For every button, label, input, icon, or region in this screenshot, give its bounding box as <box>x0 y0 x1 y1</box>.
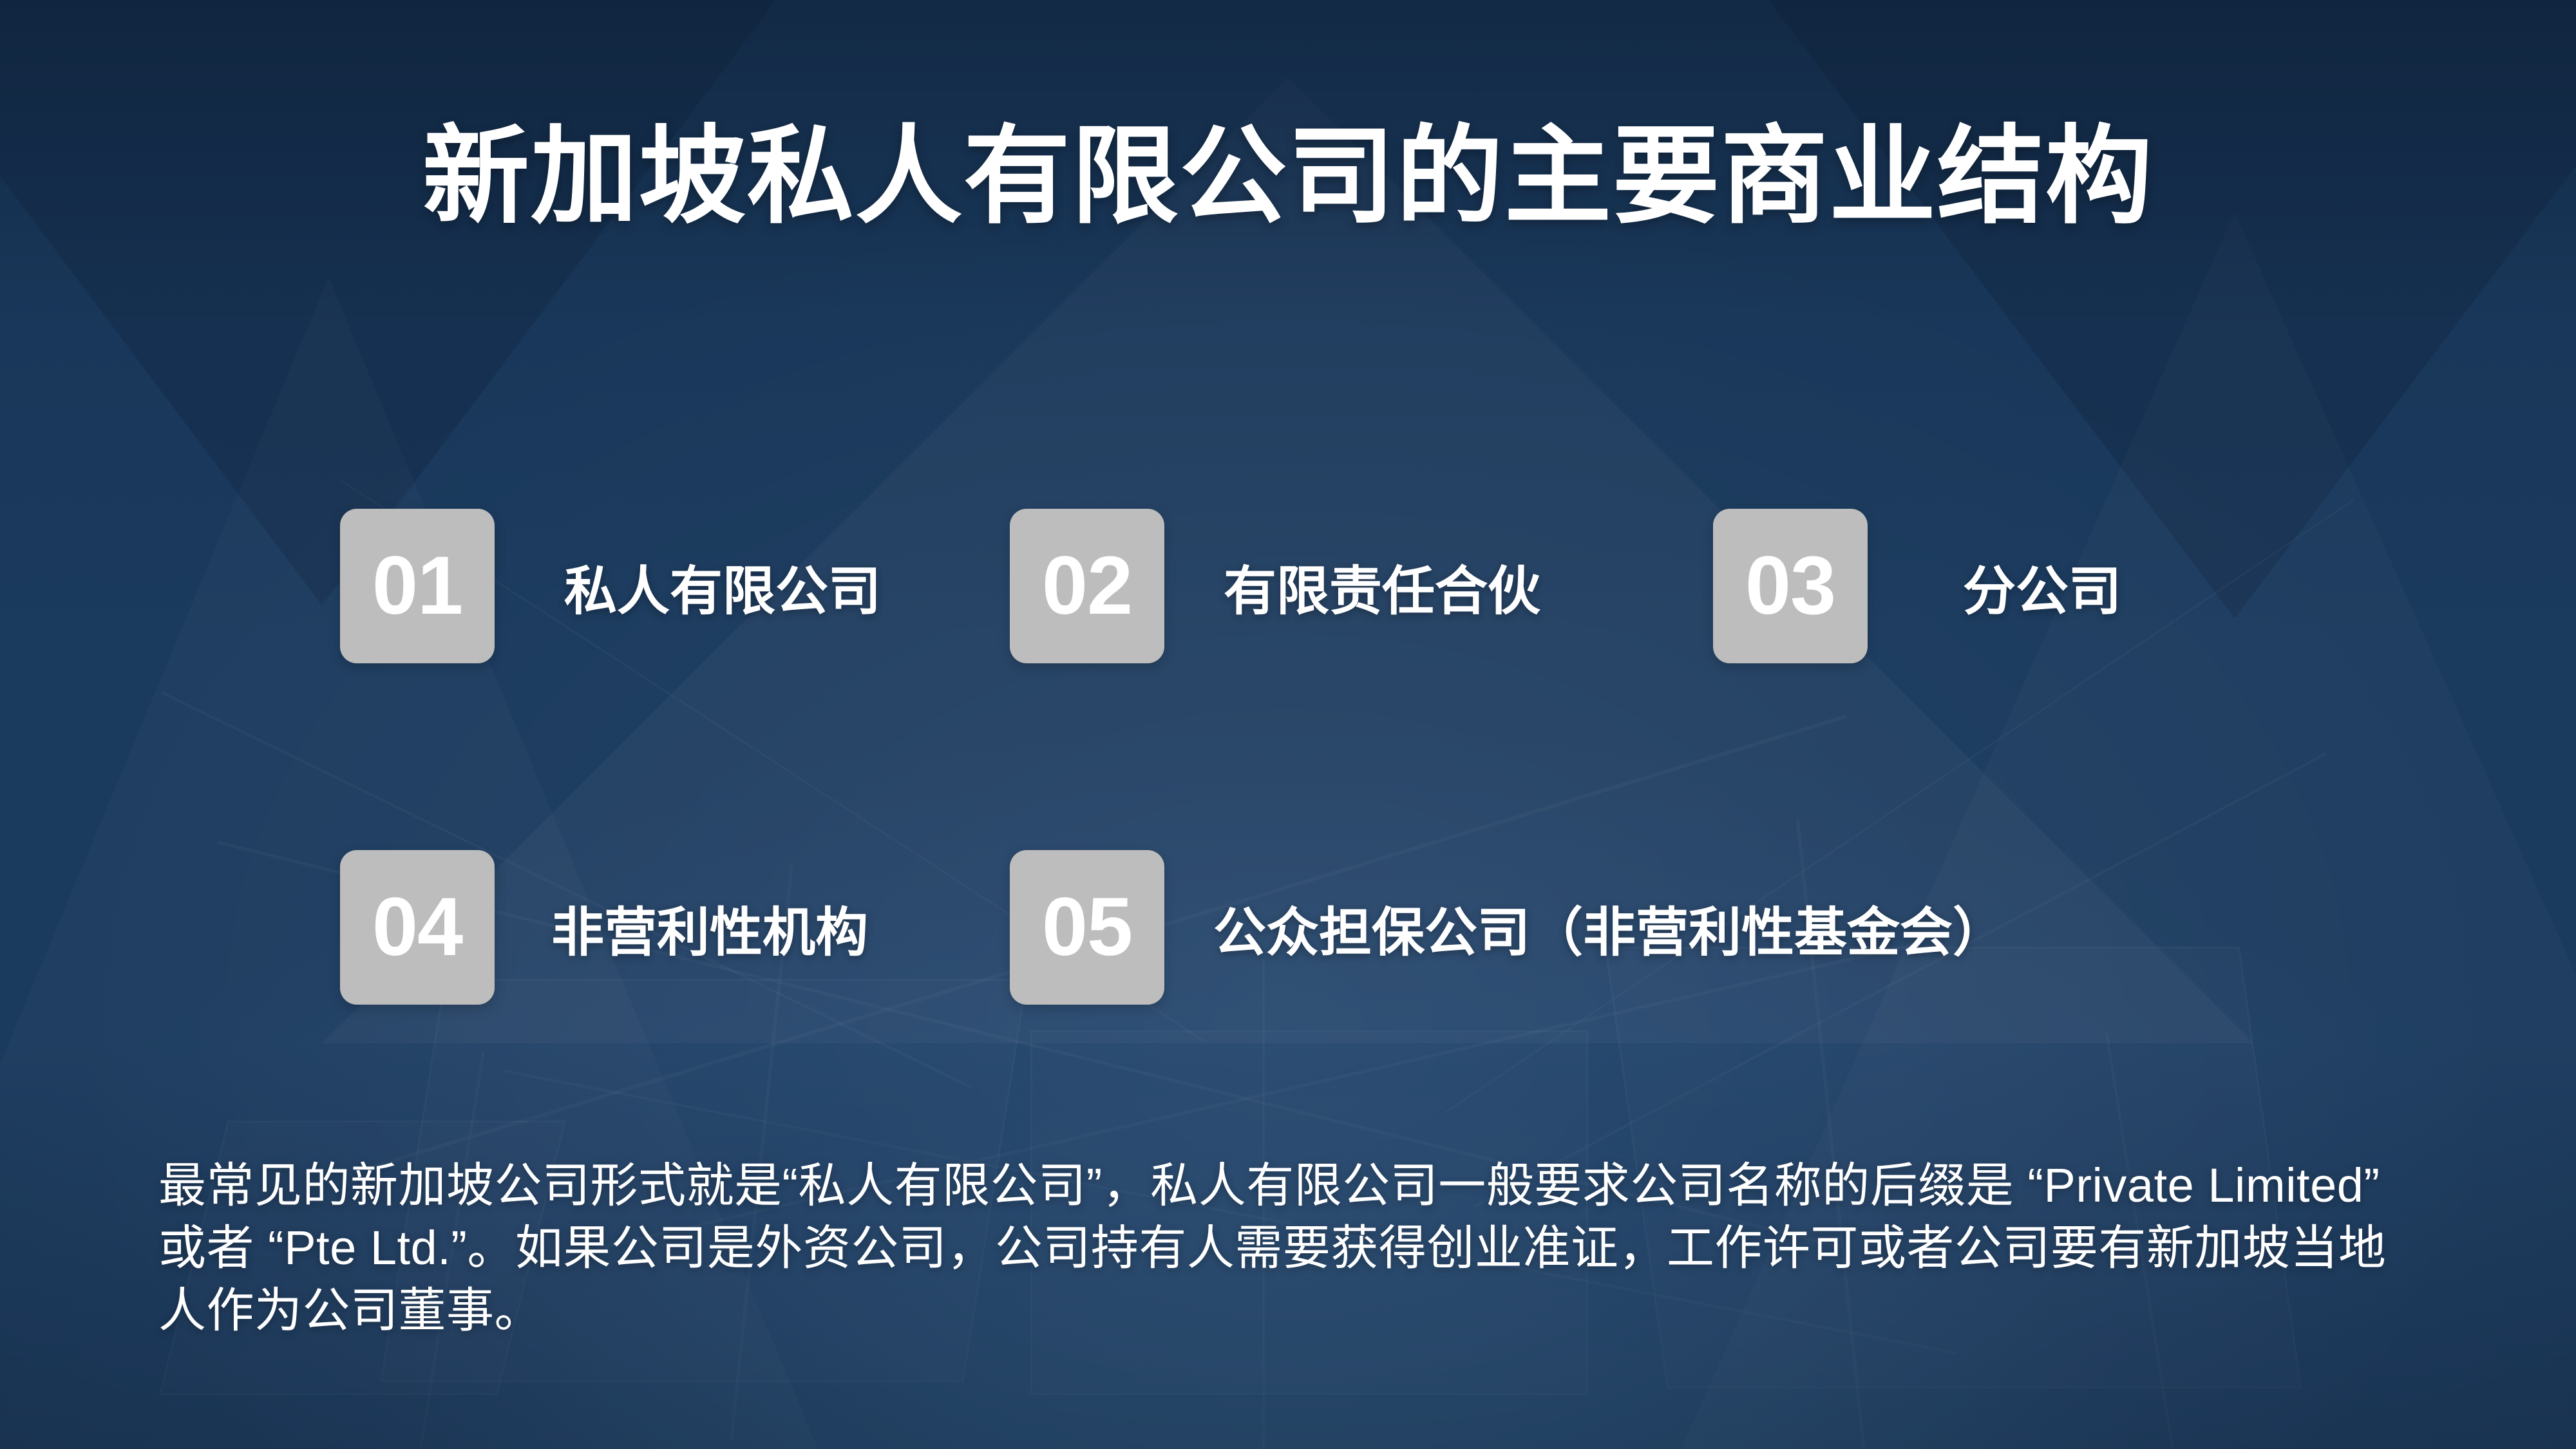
item-label-02: 有限责任合伙 <box>1224 548 1540 625</box>
structure-item-01[interactable]: 01 私人有限公司 <box>340 507 881 665</box>
item-number-01: 01 <box>372 545 462 627</box>
body-paragraph: 最常见的新加坡公司形式就是“私人有限公司”，私人有限公司一般要求公司名称的后缀是… <box>158 1155 2432 1342</box>
structure-item-02[interactable]: 02 有限责任合伙 <box>1010 507 1540 665</box>
item-number-badge-04: 04 <box>340 850 495 1005</box>
structure-list-row-1: 01 私人有限公司 02 有限责任合伙 03 分公司 <box>0 507 2576 665</box>
item-number-badge-05: 05 <box>1010 850 1164 1005</box>
slide-title: 新加坡私人有限公司的主要商业结构 <box>0 116 2576 239</box>
presentation-slide: 新加坡私人有限公司的主要商业结构 01 私人有限公司 02 有限责任合伙 03 … <box>0 0 2576 1449</box>
item-number-badge-02: 02 <box>1010 509 1164 663</box>
item-number-03: 03 <box>1745 545 1835 627</box>
structure-item-03[interactable]: 03 分公司 <box>1713 507 2121 665</box>
item-number-04: 04 <box>372 886 462 969</box>
item-number-02: 02 <box>1042 545 1132 627</box>
item-number-badge-03: 03 <box>1713 509 1868 663</box>
item-number-05: 05 <box>1042 886 1132 969</box>
structure-item-04[interactable]: 04 非营利性机构 <box>340 849 868 1006</box>
item-label-03: 分公司 <box>1963 548 2121 625</box>
structure-list-row-2: 04 非营利性机构 05 公众担保公司（非营利性基金会） <box>0 849 2576 1006</box>
item-label-05: 公众担保公司（非营利性基金会） <box>1213 889 2005 966</box>
item-label-01: 私人有限公司 <box>564 548 881 625</box>
item-label-04: 非营利性机构 <box>551 889 868 966</box>
slide-content: 新加坡私人有限公司的主要商业结构 01 私人有限公司 02 有限责任合伙 03 … <box>0 0 2576 1449</box>
item-number-badge-01: 01 <box>340 509 495 663</box>
structure-item-05[interactable]: 05 公众担保公司（非营利性基金会） <box>1010 849 2005 1006</box>
